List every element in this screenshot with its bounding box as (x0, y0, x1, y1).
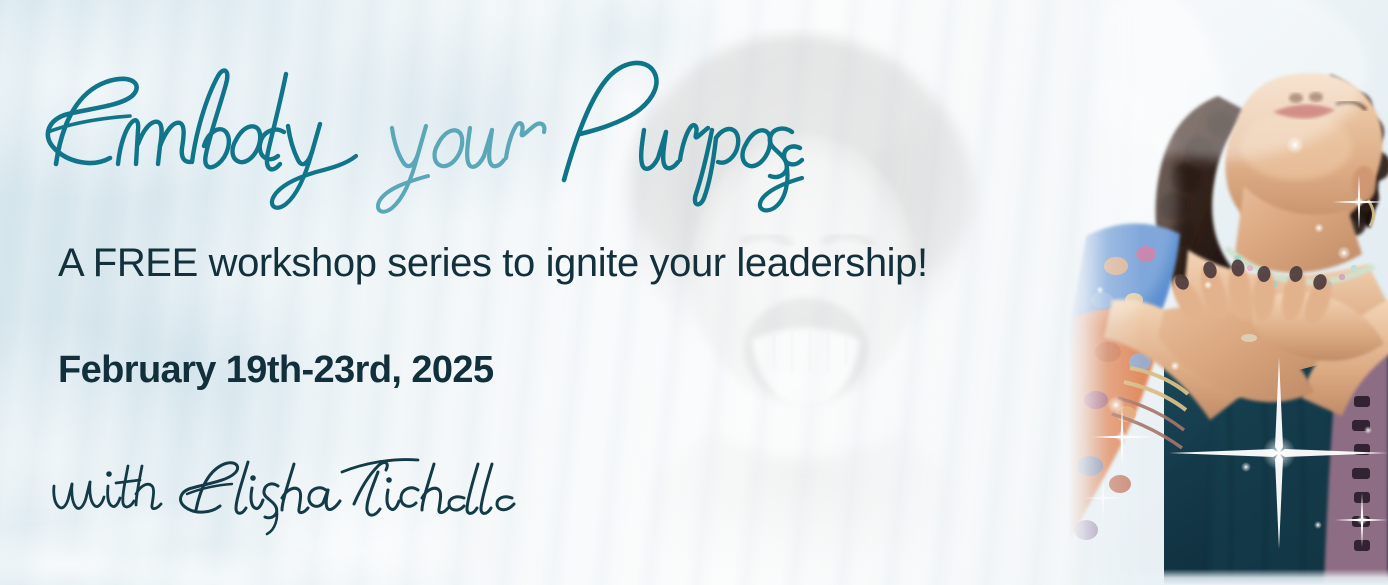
text-content: Embody your Purpose (0, 0, 1388, 585)
date-text: February 19th-23rd, 2025 (58, 349, 493, 393)
promo-banner: Embody your Purpose (0, 0, 1388, 585)
headline-script: Embody your Purpose (40, 52, 800, 212)
presenter-signature: with Elisha Tichelle (46, 452, 516, 536)
subtitle-text: A FREE workshop series to ignite your le… (58, 240, 928, 286)
